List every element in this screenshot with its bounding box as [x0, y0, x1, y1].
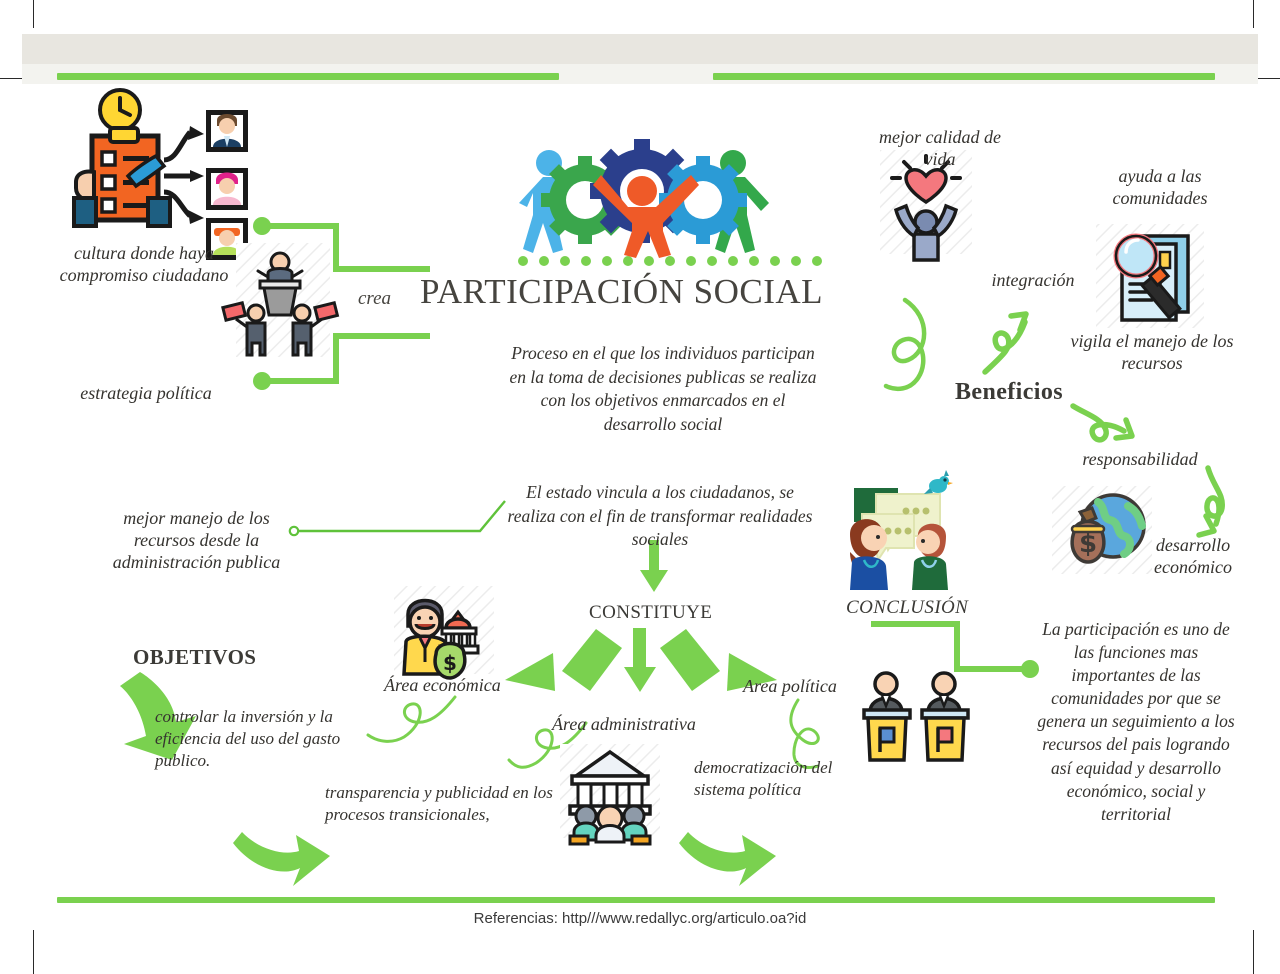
swoosh-arrow-right [679, 832, 776, 886]
page-title: PARTICIPACIÓN SOCIAL [420, 272, 890, 312]
chat-people-icon [850, 470, 953, 590]
heading-constituye: CONSTITUYE [589, 602, 712, 624]
magnifier-documents-icon [1096, 224, 1204, 328]
gears-teamwork-icon [519, 139, 769, 258]
checklist-people-icon [74, 90, 248, 260]
state-note-text: El estado vincula a los ciudadanos, se r… [500, 481, 820, 552]
connector-dot-strategy [253, 372, 271, 390]
label-ayuda-comunidades: ayuda a las comunidades [1082, 166, 1238, 210]
connector-label-crea: crea [358, 288, 391, 310]
label-estrategia-politica: estrategia política [56, 383, 236, 405]
label-desarrollo-economico: desarrollo económico [1138, 535, 1248, 579]
label-cultura-compromiso: cultura donde haya compromiso ciudadano [44, 243, 244, 287]
heading-objetivos: OBJETIVOS [133, 645, 256, 670]
conclusion-text: La participación es uno de las funciones… [1030, 618, 1242, 826]
svg-text:$: $ [443, 651, 457, 675]
definition-text: Proceso en el que los individuos partici… [508, 342, 818, 437]
footer-reference: Referencias: http///www.redallyc.org/art… [0, 910, 1280, 927]
institution-people-icon [560, 744, 660, 844]
doodle-arrow-integracion [985, 314, 1026, 372]
doodle-loop-title-to-beneficios [886, 300, 924, 389]
government-money-icon: $ [394, 586, 494, 678]
label-area-politica: Area política [743, 676, 837, 698]
dotted-divider [518, 256, 822, 266]
label-mejor-manejo-recursos: mejor manejo de los recursos desde la ad… [94, 508, 299, 574]
label-responsabilidad: responsabilidad [1054, 449, 1226, 471]
money-globe-icon: $ [1052, 486, 1152, 574]
label-mejor-calidad-vida: mejor calidad de vida [866, 127, 1014, 171]
arrow-constituye-middle [624, 628, 656, 692]
heading-conclusion: CONCLUSIÓN [846, 597, 968, 619]
debate-podiums-icon [864, 673, 968, 760]
infographic-canvas: $ [0, 0, 1280, 974]
swoosh-arrow-left [233, 832, 330, 886]
label-vigila-manejo-recursos: vigila el manejo de los recursos [1070, 331, 1234, 375]
doodle-arrow-responsabilidad [1073, 406, 1132, 440]
connector-dot-culture [253, 217, 271, 235]
detail-objetivos: controlar la inversión y la eficiencia d… [155, 706, 373, 772]
label-integracion: integración [968, 270, 1098, 292]
doodle-tail-area-economica [368, 697, 455, 741]
heading-beneficios: Beneficios [955, 379, 1063, 406]
label-area-economica: Área económica [384, 675, 501, 697]
svg-text:$: $ [1079, 529, 1097, 559]
connector-conclusion [871, 624, 1025, 669]
connector-resource-management [295, 501, 505, 531]
arrow-constituye-left [505, 629, 622, 691]
label-area-administrativa: Área administrativa [552, 714, 696, 736]
detail-democratizacion: democratización del sistema política [694, 757, 860, 801]
detail-transparencia: transparencia y publicidad en los proces… [325, 782, 565, 826]
doodle-arrow-desarrollo-economico [1199, 468, 1222, 535]
